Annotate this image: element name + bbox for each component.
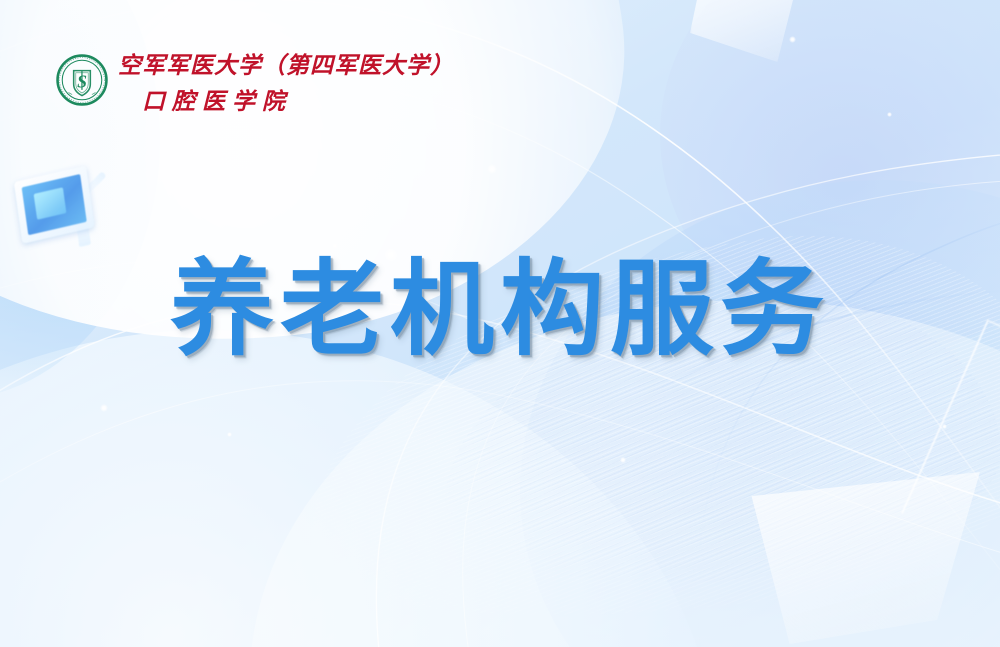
bottom-left-disc-decoration [0, 330, 720, 647]
right-blue-wash-decoration [520, 180, 1000, 647]
presentation-slide: S 空军军医大学（第四军医大学） 口腔医学院 养老机构服务 [0, 0, 1000, 647]
organization-name-block: 空军军医大学（第四军医大学） 口腔医学院 [118, 50, 454, 115]
school-name: 口腔医学院 [142, 88, 454, 115]
university-logo-lockup: S 空军军医大学（第四军医大学） 口腔医学院 [56, 50, 454, 115]
bottom-right-glass-shard-decoration [742, 472, 980, 644]
university-name: 空军军医大学（第四军医大学） [118, 52, 454, 79]
sparkle-icon [620, 457, 626, 463]
sparkle-icon [487, 164, 497, 174]
glass-monitor-icon [9, 157, 114, 262]
monitor-frame [14, 165, 95, 243]
monitor-stand [75, 211, 91, 247]
sparkle-icon [942, 424, 947, 429]
university-seal-icon: S [56, 54, 108, 106]
title-container: 养老机构服务 [0, 258, 1000, 362]
monitor-arm [77, 171, 106, 201]
sparkle-icon [332, 243, 338, 249]
monitor-screen-inner [34, 187, 67, 220]
monitor-screen [22, 174, 87, 235]
sparkle-icon [100, 404, 108, 412]
slide-title: 养老机构服务 [170, 258, 830, 362]
sparkle-icon [789, 36, 796, 43]
top-glass-shard-decoration [690, 0, 802, 62]
sparkle-icon [887, 112, 892, 117]
sparkle-icon [227, 432, 232, 437]
